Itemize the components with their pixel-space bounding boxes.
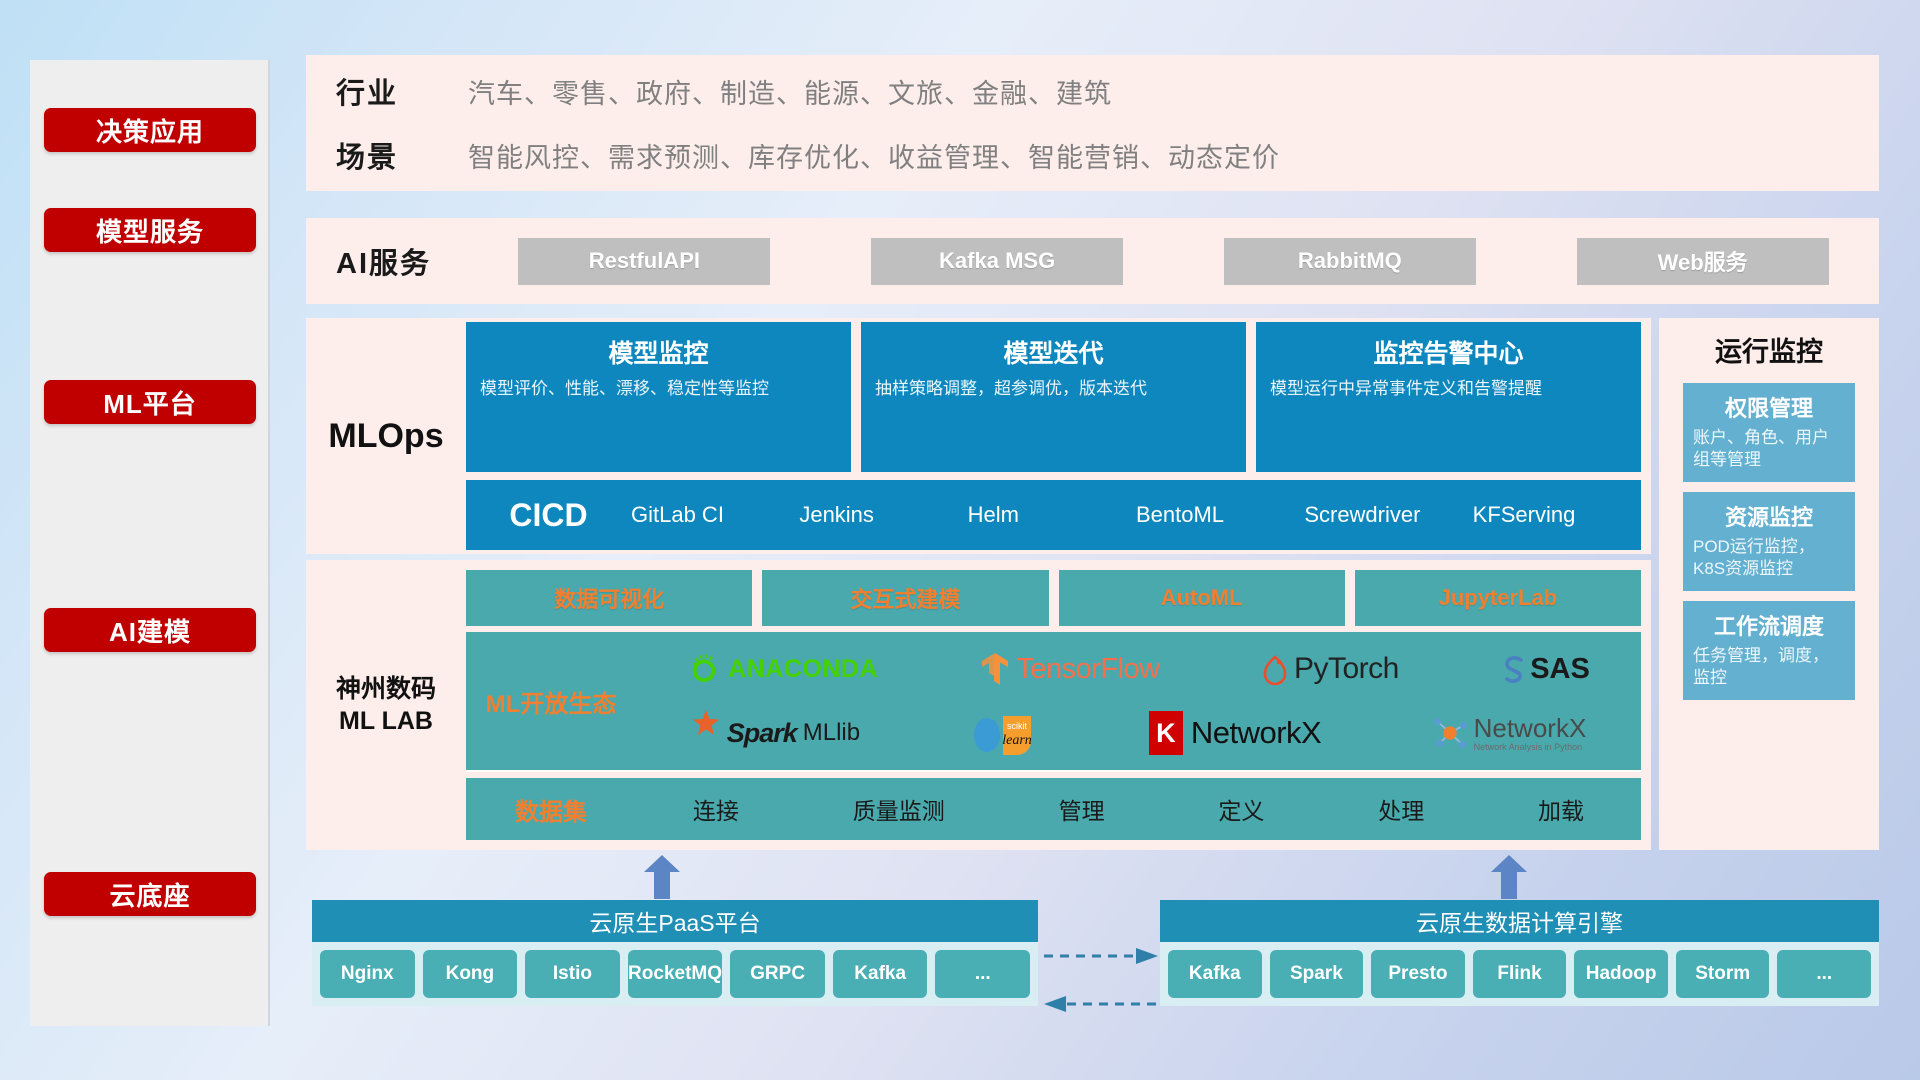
sas-logo: SAS [1501,653,1590,686]
paas-chip-grpc[interactable]: GRPC [730,950,825,998]
ml-ecosystem-row: ML开放生态 ANACONDA [466,632,1641,772]
sidebar-item-model-service[interactable]: 模型服务 [44,208,256,252]
monitor-card-permissions[interactable]: 权限管理 账户、角色、用户组等管理 [1683,383,1855,482]
up-arrow-compute-icon [1487,855,1531,899]
paas-chip-rocketmq[interactable]: RocketMQ [628,950,723,998]
networkx-icon [1431,714,1469,752]
stack-layer-rail: 决策应用 模型服务 ML平台 AI建模 云底座 [30,60,270,1026]
cicd-item-kfserving[interactable]: KFServing [1473,502,1641,527]
paas-chip-nginx[interactable]: Nginx [320,950,415,998]
anaconda-icon [687,652,721,686]
industry-values: 汽车、零售、政府、制造、能源、文旅、金融、建筑 [468,72,1112,111]
ai-service-chip-web-service[interactable]: Web服务 [1577,238,1829,285]
ai-service-band: AI服务 RestfulAPI Kafka MSG RabbitMQ Web服务 [306,218,1879,304]
mlops-card-model-iteration[interactable]: 模型迭代 抽样策略调整，超参调优，版本迭代 [861,322,1246,472]
anaconda-logo: ANACONDA [687,652,878,686]
sas-icon [1501,653,1527,685]
sidebar-item-label: 决策应用 [96,112,204,149]
mlops-label: MLOps [306,417,466,456]
pytorch-label: PyTorch [1294,652,1399,686]
spark-star-icon [691,709,721,739]
cloud-paas-title: 云原生PaaS平台 [312,900,1038,942]
cicd-label: CICD [466,497,631,534]
svg-text:scikit: scikit [1007,721,1027,731]
tool-automl[interactable]: AutoML [1059,570,1345,626]
dataset-item-connect[interactable]: 连接 [693,792,739,826]
mlops-band: MLOps 模型监控 模型评价、性能、漂移、稳定性等监控 模型迭代 抽样策略调整… [306,318,1651,554]
ai-service-chip-rabbitmq[interactable]: RabbitMQ [1224,238,1476,285]
cicd-item-gitlab-ci[interactable]: GitLab CI [631,502,799,527]
tool-jupyterlab[interactable]: JupyterLab [1355,570,1641,626]
card-title: 模型监控 [480,334,837,370]
sas-label: SAS [1530,653,1590,686]
paas-chip-more[interactable]: ... [935,950,1030,998]
cloud-compute-block: 云原生数据计算引擎 Kafka Spark Presto Flink Hadoo… [1160,900,1879,1006]
paas-chip-kafka[interactable]: Kafka [833,950,928,998]
card-title: 权限管理 [1693,391,1845,423]
scikit-learn-logo: scikit learn [969,711,1039,755]
cicd-bar: CICD GitLab CI Jenkins Helm BentoML Scre… [466,480,1641,550]
ai-modeling-band: 神州数码 ML LAB 数据可视化 交互式建模 AutoML JupyterLa… [306,560,1651,850]
compute-chip-hadoop[interactable]: Hadoop [1574,950,1668,998]
card-desc: 模型运行中异常事件定义和告警提醒 [1270,378,1627,400]
spark-wordmark: Spark [727,718,797,749]
ecosystem-logo-row-1: ANACONDA TensorFlow [636,638,1641,700]
scenario-row: 场景 智能风控、需求预测、库存优化、收益管理、智能营销、动态定价 [336,134,1879,176]
mllib-wordmark: MLlib [803,719,860,747]
compute-chip-flink[interactable]: Flink [1473,950,1567,998]
decision-apps-band: 行业 汽车、零售、政府、制造、能源、文旅、金融、建筑 场景 智能风控、需求预测、… [306,55,1879,191]
runtime-monitor-panel: 运行监控 权限管理 账户、角色、用户组等管理 资源监控 POD运行监控，K8S资… [1659,318,1879,850]
cicd-item-bentoml[interactable]: BentoML [1136,502,1304,527]
up-arrow-paas-icon [640,855,684,899]
monitor-card-workflow[interactable]: 工作流调度 任务管理，调度，监控 [1683,601,1855,700]
tool-interactive-modeling[interactable]: 交互式建模 [762,570,1048,626]
networkx-label: NetworkX [1474,715,1587,741]
tensorflow-icon [980,651,1010,687]
ml-ecosystem-label: ML开放生态 [466,684,636,719]
compute-chip-more[interactable]: ... [1777,950,1871,998]
svg-text:learn: learn [1003,733,1033,748]
cicd-item-screwdriver[interactable]: Screwdriver [1304,502,1472,527]
ai-service-chip-kafka-msg[interactable]: Kafka MSG [871,238,1123,285]
dataset-item-load[interactable]: 加载 [1538,792,1584,826]
pytorch-logo: PyTorch [1262,652,1399,686]
dataset-item-define[interactable]: 定义 [1218,792,1264,826]
card-desc: 任务管理，调度，监控 [1693,645,1845,690]
ai-service-label: AI服务 [336,240,468,282]
sidebar-item-label: 模型服务 [96,212,204,249]
keras-icon: K [1149,711,1183,755]
ecosystem-logo-row-2: Spark MLlib scikit learn [636,702,1641,764]
networkx-tagline: Network Analysis in Python [1474,743,1587,752]
card-title: 模型迭代 [875,334,1232,370]
paas-chip-istio[interactable]: Istio [525,950,620,998]
scikit-learn-icon: scikit learn [969,711,1039,755]
dataset-item-process[interactable]: 处理 [1378,792,1424,826]
mlops-card-model-monitoring[interactable]: 模型监控 模型评价、性能、漂移、稳定性等监控 [466,322,851,472]
tensorflow-label: TensorFlow [1016,653,1159,686]
dataset-row: 数据集 连接 质量监测 管理 定义 处理 加载 [466,778,1641,840]
tool-data-visualization[interactable]: 数据可视化 [466,570,752,626]
ml-lab-label-line2: ML LAB [306,705,466,738]
runtime-monitor-title: 运行监控 [1715,330,1823,369]
cicd-item-helm[interactable]: Helm [968,502,1136,527]
card-title: 工作流调度 [1693,609,1845,641]
card-desc: POD运行监控，K8S资源监控 [1693,536,1845,581]
compute-chip-presto[interactable]: Presto [1371,950,1465,998]
card-desc: 抽样策略调整，超参调优，版本迭代 [875,378,1232,400]
monitor-card-resources[interactable]: 资源监控 POD运行监控，K8S资源监控 [1683,492,1855,591]
card-desc: 账户、角色、用户组等管理 [1693,427,1845,472]
sidebar-item-cloud-foundation[interactable]: 云底座 [44,872,256,916]
ai-service-list: RestfulAPI Kafka MSG RabbitMQ Web服务 [468,238,1879,285]
mlops-card-alert-center[interactable]: 监控告警中心 模型运行中异常事件定义和告警提醒 [1256,322,1641,472]
sidebar-item-label: ML平台 [103,384,197,421]
industry-row: 行业 汽车、零售、政府、制造、能源、文旅、金融、建筑 [336,70,1879,112]
compute-chip-kafka[interactable]: Kafka [1168,950,1262,998]
sidebar-item-decision-apps[interactable]: 决策应用 [44,108,256,152]
compute-chip-spark[interactable]: Spark [1270,950,1364,998]
cloud-paas-block: 云原生PaaS平台 Nginx Kong Istio RocketMQ GRPC… [312,900,1038,1006]
dataset-label: 数据集 [466,792,636,827]
dataset-item-quality[interactable]: 质量监测 [853,792,945,826]
card-title: 资源监控 [1693,500,1845,532]
card-title: 监控告警中心 [1270,334,1627,370]
scenario-label: 场景 [336,134,468,176]
bidirectional-exchange-arrows [1040,940,1160,1020]
cloud-compute-title: 云原生数据计算引擎 [1160,900,1879,942]
sidebar-item-label: 云底座 [109,876,190,913]
anaconda-label: ANACONDA [728,655,878,684]
paas-chip-kong[interactable]: Kong [423,950,518,998]
keras-label: NetworkX [1191,715,1321,751]
ai-service-chip-restfulapi[interactable]: RestfulAPI [518,238,770,285]
scenario-values: 智能风控、需求预测、库存优化、收益管理、智能营销、动态定价 [468,136,1280,175]
sidebar-item-label: AI建模 [109,612,191,649]
dataset-item-manage[interactable]: 管理 [1059,792,1105,826]
pytorch-icon [1262,653,1288,685]
networkx-logo: NetworkX Network Analysis in Python [1431,714,1587,752]
sidebar-item-ai-modeling[interactable]: AI建模 [44,608,256,652]
compute-chip-storm[interactable]: Storm [1676,950,1770,998]
ml-lab-label: 神州数码 ML LAB [306,673,466,738]
ml-lab-label-line1: 神州数码 [306,673,466,706]
keras-logo: K NetworkX [1149,711,1321,755]
industry-label: 行业 [336,70,468,112]
cicd-item-jenkins[interactable]: Jenkins [799,502,967,527]
sidebar-item-ml-platform[interactable]: ML平台 [44,380,256,424]
tensorflow-logo: TensorFlow [980,651,1159,687]
spark-mllib-logo: Spark MLlib [691,718,860,749]
card-desc: 模型评价、性能、漂移、稳定性等监控 [480,378,837,400]
